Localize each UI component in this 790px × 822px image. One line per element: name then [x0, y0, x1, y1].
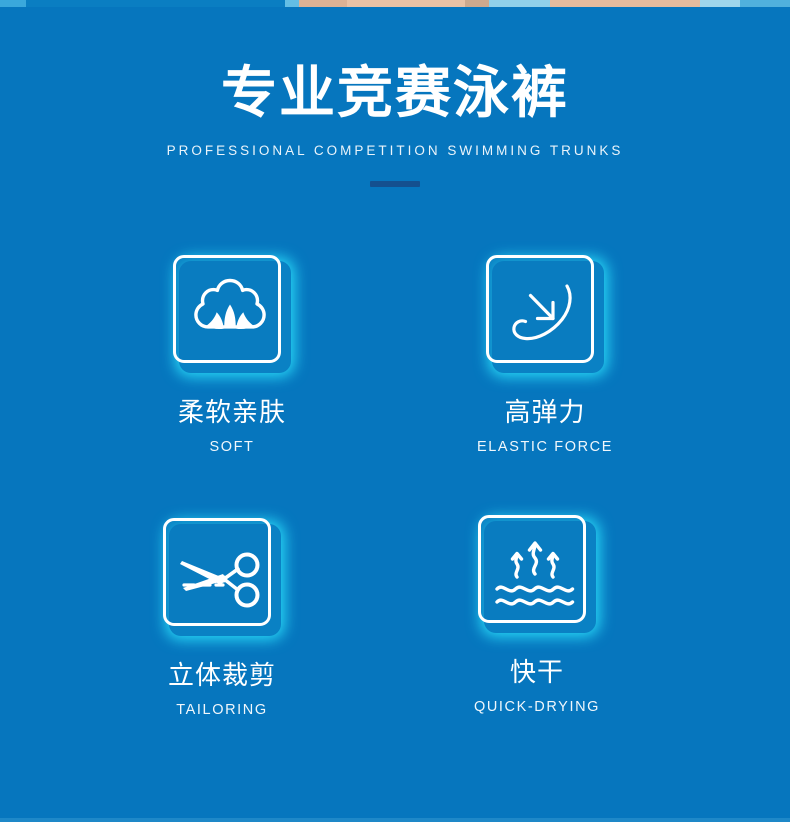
sliver-segment	[285, 0, 299, 7]
icon-frame	[478, 515, 596, 633]
icon-box	[478, 515, 586, 623]
feature-title: 立体裁剪	[72, 660, 372, 692]
headline-block: 专业竞赛泳裤 PROFESSIONAL COMPETITION SWIMMING…	[0, 62, 790, 187]
feature-subtitle: ELASTIC FORCE	[395, 438, 695, 456]
sliver-segment	[740, 0, 790, 7]
icon-frame	[173, 255, 291, 373]
icon-box	[163, 518, 271, 626]
top-image-sliver	[0, 0, 790, 7]
feature-title: 柔软亲肤	[82, 397, 382, 429]
sliver-segment	[299, 0, 347, 7]
icon-frame	[163, 518, 281, 636]
feature-title: 高弹力	[395, 397, 695, 429]
feature-grid: 柔软亲肤 SOFT 高弹力 ELASTIC FORCE	[0, 255, 790, 775]
feature-subtitle: TAILORING	[72, 701, 372, 719]
feature-title: 快干	[387, 657, 687, 689]
feature-item-soft: 柔软亲肤 SOFT	[82, 255, 382, 456]
page-subtitle: PROFESSIONAL COMPETITION SWIMMING TRUNKS	[0, 142, 790, 159]
feature-item-elastic: 高弹力 ELASTIC FORCE	[395, 255, 695, 456]
elastic-bounce-arrow-icon	[489, 258, 597, 366]
sliver-segment	[465, 0, 489, 7]
icon-box	[486, 255, 594, 363]
scissors-cut-icon	[166, 521, 274, 629]
bottom-image-sliver	[0, 818, 790, 822]
feature-subtitle: QUICK-DRYING	[387, 698, 687, 716]
icon-frame	[486, 255, 604, 373]
feature-item-quick-drying: 快干 QUICK-DRYING	[387, 515, 687, 716]
feature-item-tailoring: 立体裁剪 TAILORING	[72, 518, 372, 719]
feature-subtitle: SOFT	[82, 438, 382, 456]
cotton-flower-icon	[176, 258, 284, 366]
product-feature-banner: 专业竞赛泳裤 PROFESSIONAL COMPETITION SWIMMING…	[0, 0, 790, 822]
title-divider	[370, 181, 420, 187]
water-evaporation-icon	[481, 518, 589, 626]
sliver-segment	[0, 0, 26, 7]
sliver-segment	[347, 0, 465, 7]
icon-box	[173, 255, 281, 363]
sliver-segment	[550, 0, 700, 7]
page-title: 专业竞赛泳裤	[0, 62, 790, 126]
sliver-segment	[700, 0, 740, 7]
sliver-segment	[489, 0, 550, 7]
sliver-segment	[26, 0, 285, 7]
